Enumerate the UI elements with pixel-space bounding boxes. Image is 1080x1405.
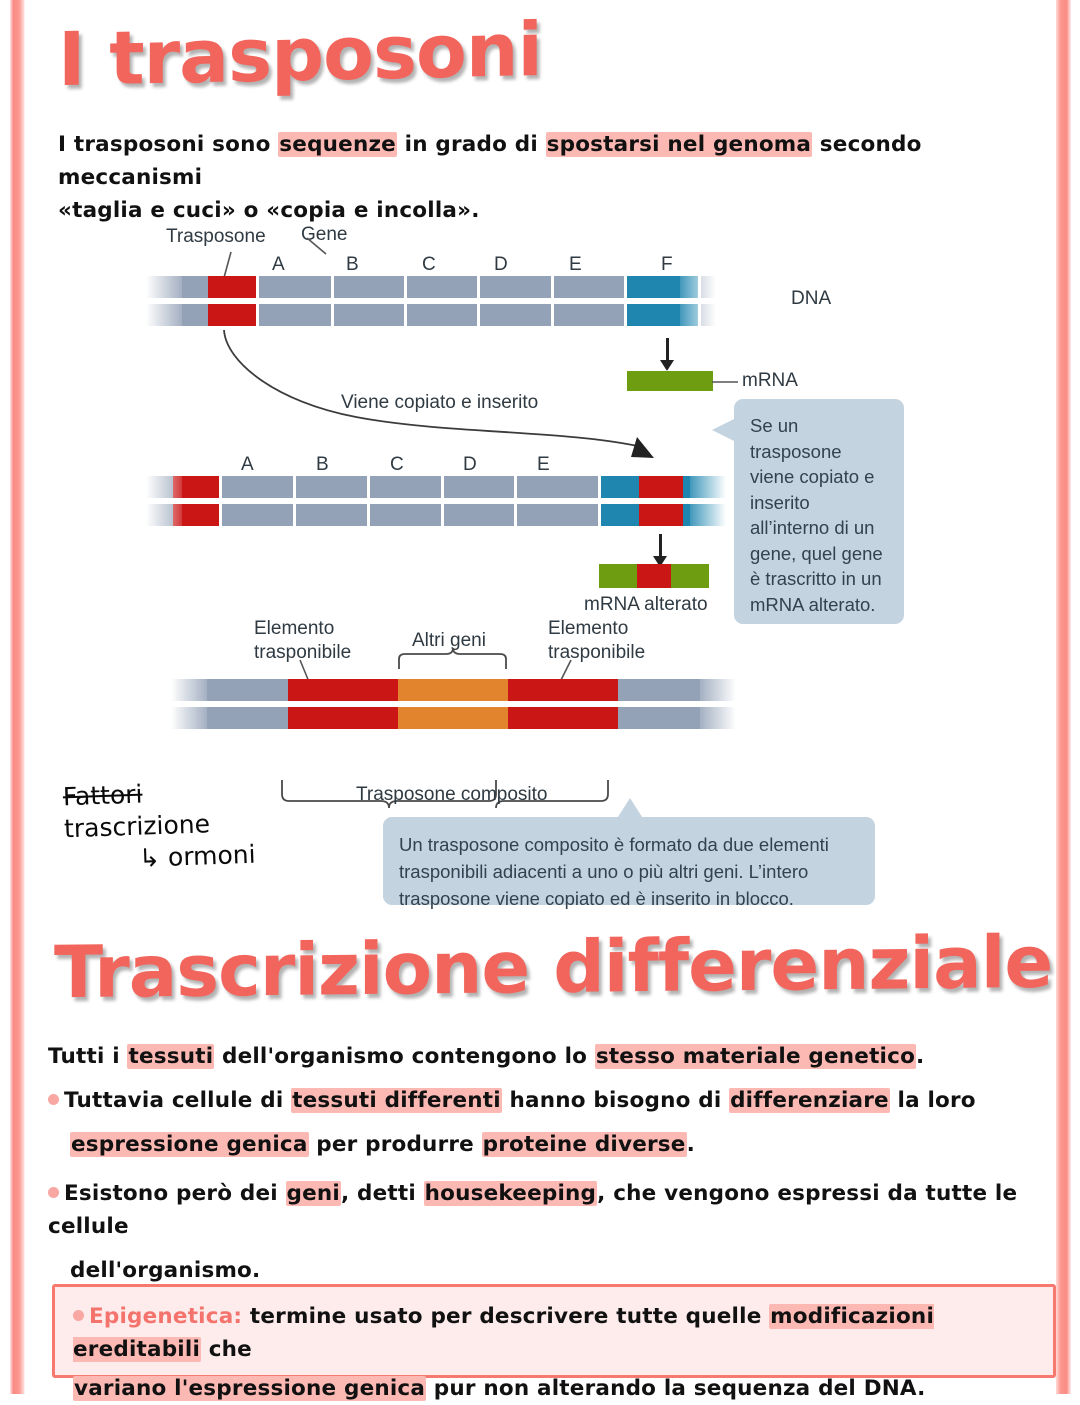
gene-letter-e-row1: E — [569, 254, 582, 276]
figure-label-trasposone-composito: Trasposone composito — [356, 784, 548, 806]
figure-label-trasposone: Trasposone — [166, 226, 266, 248]
callout-trasposone-composito: Un trasposone composito è formato da due… — [383, 817, 875, 905]
note-line-3: espressione genica per produrre proteine… — [70, 1128, 1058, 1161]
page-content: I trasposoni I trasposoni sono sequenze … — [26, 0, 1056, 1394]
mrna-bar — [626, 370, 714, 392]
note-4-highlight-geni: geni — [286, 1181, 341, 1206]
note-1-text-b: dell'organismo contengono lo — [214, 1044, 595, 1069]
intro-line-1: I trasposoni sono sequenze in grado di s… — [58, 128, 1048, 194]
note-2-text-c: la loro — [890, 1088, 976, 1113]
transposon-block-row1 — [208, 276, 256, 326]
transcription-arrow-shaft-1 — [666, 338, 669, 362]
handwritten-annotation: Fattori trascrizione ↳ ormoni — [62, 775, 256, 878]
page-border-left — [10, 0, 25, 1394]
gene-letter-b-row1: B — [346, 254, 359, 276]
note-2-highlight-tessuti-differenti: tessuti differenti — [291, 1088, 502, 1113]
callout-2-tail — [616, 798, 644, 820]
figure-label-viene-copiato: Viene copiato e inserito — [341, 392, 538, 414]
bullet-dot-icon-2 — [48, 1187, 59, 1198]
note-2-highlight-differenziare: differenziare — [729, 1088, 890, 1113]
gene-letter-f-row1: F — [661, 254, 673, 276]
bullet-dot-icon-3 — [73, 1310, 84, 1321]
transposable-element-left — [288, 679, 398, 729]
note-3-highlight-espressione: espressione genica — [70, 1132, 309, 1157]
note-2-text-a: Tuttavia cellule di — [64, 1088, 291, 1113]
epigenetics-text-a: termine usato per descrivere tutte quell… — [242, 1304, 769, 1329]
gene-letter-a-row1: A — [272, 254, 285, 276]
gene-letter-d-row2: D — [463, 454, 477, 476]
transposon-block-row2 — [173, 476, 219, 526]
note-4-text-b: , detti — [341, 1181, 424, 1206]
altered-mrna-bar — [599, 564, 709, 588]
note-5-text-a: dell'organismo. — [70, 1258, 260, 1283]
differential-transcription-notes: Tutti i tessuti dell'organismo contengon… — [48, 1040, 1058, 1298]
note-4-text-a: Esistono però dei — [64, 1181, 286, 1206]
dna-strand-top — [146, 276, 716, 326]
intro-highlight-spostarsi: spostarsi nel genoma — [546, 132, 813, 157]
intro-text-a: I trasposoni sono — [58, 132, 278, 157]
inserted-transposon-block — [639, 476, 683, 526]
epigenetics-text-b: che — [201, 1337, 252, 1362]
transposable-element-right — [508, 679, 618, 729]
note-3-highlight-proteine: proteine diverse — [482, 1132, 687, 1157]
note-1-text-a: Tutti i — [48, 1044, 127, 1069]
dna-strand-bottom — [146, 476, 726, 526]
page-title-trasposoni: I trasposoni — [58, 7, 542, 103]
figure-label-altri-geni: Altri geni — [412, 630, 486, 652]
note-line-2: Tuttavia cellule di tessuti differenti h… — [48, 1084, 1058, 1117]
note-3-text-a: per produrre — [309, 1132, 482, 1157]
gene-letter-a-row2: A — [241, 454, 254, 476]
mrna-leader-line — [712, 380, 742, 384]
figure-label-mrna-alterato: mRNA alterato — [584, 594, 708, 616]
page-title-trascrizione-differenziale: Trascrizione differenziale — [54, 920, 1052, 1014]
handwriting-line-3: ↳ ormoni — [139, 839, 257, 875]
bullet-dot-icon — [48, 1094, 59, 1105]
figure-label-dna: DNA — [791, 288, 831, 310]
transcription-arrow-shaft-2 — [659, 534, 662, 558]
epigenetics-text-c: pur non alterando la sequenza del DNA. — [426, 1376, 925, 1401]
epigenetics-term: Epigenetica: — [89, 1304, 242, 1329]
intro-highlight-sequenze: sequenze — [278, 132, 397, 157]
figure-label-mrna: mRNA — [742, 370, 798, 392]
note-4-highlight-housekeeping: housekeeping — [424, 1181, 598, 1206]
note-line-1: Tutti i tessuti dell'organismo contengon… — [48, 1040, 1058, 1073]
figure-label-elemento-trasponibile-left: Elemento trasponibile — [254, 617, 351, 665]
handwriting-line-2: trascrizione — [64, 809, 211, 843]
page-border-right — [1056, 0, 1071, 1394]
gene-letter-e-row2: E — [537, 454, 550, 476]
gene-letter-b-row2: B — [316, 454, 329, 476]
note-2-text-b: hanno bisogno di — [502, 1088, 729, 1113]
intro-text-b: in grado di — [397, 132, 546, 157]
dna-strand-composite — [171, 679, 736, 729]
other-genes-block — [398, 679, 508, 729]
gene-letter-c-row2: C — [390, 454, 404, 476]
figure-label-gene: Gene — [301, 224, 347, 246]
gene-letter-d-row1: D — [494, 254, 508, 276]
callout-trasposone-copiato: Se un trasposone viene copiato e inserit… — [734, 399, 904, 624]
handwriting-line-1: Fattori — [62, 780, 142, 812]
epigenetics-highlight-variano: variano l'espressione genica — [73, 1376, 426, 1401]
note-1-text-c: . — [916, 1044, 924, 1069]
epigenetics-line-2: variano l'espressione genica pur non alt… — [73, 1372, 1035, 1405]
gene-letter-c-row1: C — [422, 254, 436, 276]
note-3-text-b: . — [687, 1132, 695, 1157]
gene-f-block-row1 — [624, 276, 698, 326]
epigenetics-callout-box: Epigenetica: termine usato per descriver… — [52, 1284, 1056, 1378]
note-1-highlight-tessuti: tessuti — [127, 1044, 214, 1069]
callout-1-tail — [712, 418, 736, 442]
note-1-highlight-materiale: stesso materiale genetico — [595, 1044, 916, 1069]
epigenetics-line-1: Epigenetica: termine usato per descriver… — [73, 1300, 1035, 1366]
figure-label-elemento-trasponibile-right: Elemento trasponibile — [548, 617, 645, 665]
note-line-5: dell'organismo. — [70, 1254, 1058, 1287]
note-line-4: Esistono però dei geni, detti housekeepi… — [48, 1177, 1058, 1243]
